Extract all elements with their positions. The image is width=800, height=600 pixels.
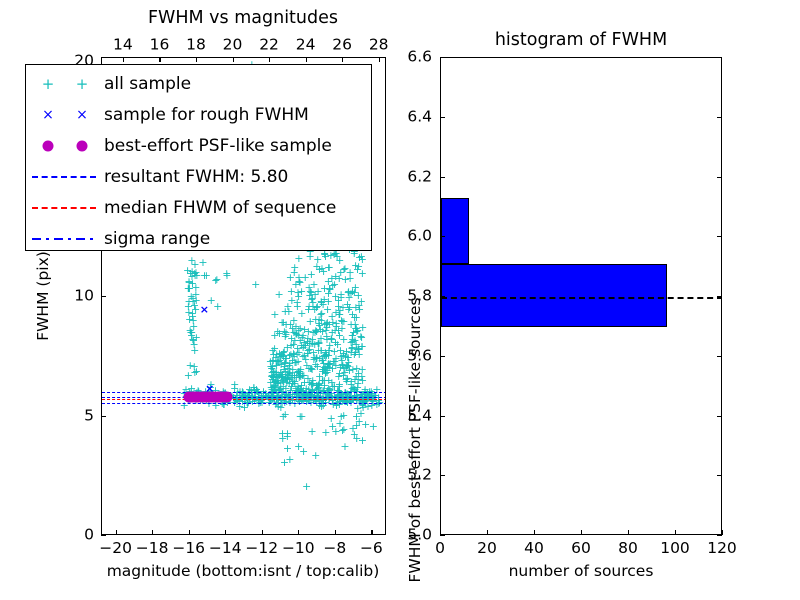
histogram-yticklabel: 6.0 bbox=[407, 229, 432, 245]
all-sample-marker: + bbox=[347, 381, 356, 389]
dashdot-line-icon bbox=[32, 238, 96, 240]
all-sample-marker: + bbox=[332, 323, 341, 331]
legend-item-4[interactable]: median FHWM of sequence bbox=[26, 192, 371, 223]
all-sample-marker: + bbox=[351, 262, 360, 270]
cross-icon: × bbox=[76, 107, 88, 123]
all-sample-marker: + bbox=[346, 275, 355, 283]
legend-label: median FHWM of sequence bbox=[104, 198, 336, 218]
histogram-xtick bbox=[675, 530, 676, 535]
all-sample-marker: + bbox=[336, 364, 345, 372]
all-sample-marker: + bbox=[187, 257, 196, 265]
all-sample-marker: + bbox=[340, 443, 349, 451]
histogram-ytick-right bbox=[717, 177, 722, 178]
histogram-ytick bbox=[440, 57, 445, 58]
all-sample-marker: + bbox=[283, 445, 292, 453]
scatter-xtick bbox=[225, 530, 226, 535]
all-sample-marker: + bbox=[305, 340, 314, 348]
scatter-xticklabel: −6 bbox=[360, 541, 383, 557]
histogram-ytick-right bbox=[717, 356, 722, 357]
histogram-xtick bbox=[487, 530, 488, 535]
scatter-top-xtick bbox=[123, 57, 124, 62]
histogram-xtick bbox=[534, 530, 535, 535]
all-sample-marker: + bbox=[311, 452, 320, 460]
all-sample-marker: + bbox=[211, 277, 220, 285]
legend-key-2 bbox=[26, 130, 104, 161]
legend-item-2[interactable]: best-effort PSF-like sample bbox=[26, 130, 371, 161]
all-sample-marker: + bbox=[273, 358, 282, 366]
all-sample-marker: + bbox=[188, 313, 197, 321]
all-sample-marker: + bbox=[327, 415, 336, 423]
scatter-top-xtick bbox=[196, 57, 197, 62]
histogram-xticklabel: 0 bbox=[435, 541, 445, 557]
histogram-xtick bbox=[628, 530, 629, 535]
circle-icon bbox=[77, 140, 88, 151]
all-sample-marker: + bbox=[243, 400, 252, 408]
all-sample-marker: + bbox=[348, 366, 357, 374]
legend-item-0[interactable]: ++all sample bbox=[26, 68, 371, 99]
histogram-xtick bbox=[581, 530, 582, 535]
all-sample-marker: + bbox=[339, 266, 348, 274]
scatter-xticklabel: −10 bbox=[282, 541, 315, 557]
scatter-top-xtick bbox=[159, 57, 160, 62]
all-sample-marker: + bbox=[346, 321, 355, 329]
circle-icon bbox=[43, 140, 54, 151]
histogram-reference-line bbox=[441, 297, 721, 299]
legend-label: all sample bbox=[104, 74, 191, 94]
all-sample-marker: + bbox=[310, 306, 319, 314]
all-sample-marker: + bbox=[283, 376, 292, 384]
scatter-xtick bbox=[335, 530, 336, 535]
histogram-ytick-right bbox=[717, 57, 722, 58]
all-sample-marker: + bbox=[348, 425, 357, 433]
scatter-title: FWHM vs magnitudes bbox=[148, 8, 338, 28]
scatter-xticklabel: −18 bbox=[136, 541, 169, 557]
legend-item-5[interactable]: sigma range bbox=[26, 223, 371, 254]
histogram-xticklabel: 80 bbox=[618, 541, 638, 557]
all-sample-marker: + bbox=[191, 291, 200, 299]
scatter-xticklabel: −16 bbox=[172, 541, 205, 557]
histogram-ytick bbox=[440, 117, 445, 118]
all-sample-marker: + bbox=[339, 426, 348, 434]
rough-sample-marker: × bbox=[200, 306, 209, 314]
legend-item-1[interactable]: ××sample for rough FWHM bbox=[26, 99, 371, 130]
scatter-xtick bbox=[298, 530, 299, 535]
all-sample-marker: + bbox=[337, 413, 346, 421]
scatter-ylabel: FWHM (pix) bbox=[34, 251, 52, 341]
all-sample-marker: + bbox=[251, 281, 260, 289]
histogram-axes[interactable] bbox=[440, 57, 722, 535]
scatter-top-xticklabel: 28 bbox=[369, 38, 389, 54]
histogram-plot-area bbox=[441, 58, 721, 534]
all-sample-marker: + bbox=[344, 288, 353, 296]
scatter-top-xticklabel: 26 bbox=[332, 38, 352, 54]
histogram-bar bbox=[441, 264, 667, 327]
all-sample-marker: + bbox=[325, 285, 334, 293]
scatter-xticklabel: −8 bbox=[323, 541, 346, 557]
scatter-top-xtick bbox=[306, 57, 307, 62]
scatter-top-xtick bbox=[342, 57, 343, 62]
all-sample-marker: + bbox=[309, 281, 318, 289]
all-sample-marker: + bbox=[302, 483, 311, 491]
histogram-xlabel: number of sources bbox=[509, 562, 654, 580]
scatter-yticklabel: 5 bbox=[84, 408, 94, 424]
scatter-reference-line bbox=[102, 392, 385, 393]
all-sample-marker: + bbox=[322, 351, 331, 359]
scatter-ytick bbox=[101, 296, 106, 297]
all-sample-marker: + bbox=[308, 366, 317, 374]
histogram-xticklabel: 40 bbox=[524, 541, 544, 557]
scatter-yticklabel: 0 bbox=[84, 527, 94, 543]
all-sample-marker: + bbox=[358, 437, 367, 445]
histogram-xticklabel: 100 bbox=[660, 541, 690, 557]
scatter-top-xticklabel: 24 bbox=[296, 38, 316, 54]
histogram-xticklabel: 120 bbox=[707, 541, 737, 557]
all-sample-marker: + bbox=[331, 428, 340, 436]
scatter-reference-line bbox=[102, 403, 385, 404]
histogram-yticklabel: 5.6 bbox=[407, 348, 432, 364]
all-sample-marker: + bbox=[317, 400, 326, 408]
scatter-xtick bbox=[371, 530, 372, 535]
scatter-xticklabel: −14 bbox=[209, 541, 242, 557]
histogram-yticklabel: 5.4 bbox=[407, 408, 432, 424]
dashed-line-icon bbox=[32, 207, 96, 209]
all-sample-marker: + bbox=[198, 259, 207, 267]
scatter-top-xtick bbox=[379, 57, 380, 62]
scatter-xtick bbox=[152, 530, 153, 535]
histogram-yticklabel: 5.8 bbox=[407, 288, 432, 304]
all-sample-marker: + bbox=[266, 379, 275, 387]
histogram-ytick-right bbox=[717, 535, 722, 536]
all-sample-marker: + bbox=[290, 359, 299, 367]
histogram-ytick-right bbox=[717, 117, 722, 118]
legend[interactable]: ++all sample××sample for rough FWHMbest-… bbox=[25, 64, 372, 251]
all-sample-marker: + bbox=[190, 347, 199, 355]
all-sample-marker: + bbox=[296, 413, 305, 421]
all-sample-marker: + bbox=[281, 411, 290, 419]
scatter-xticklabel: −12 bbox=[245, 541, 278, 557]
all-sample-marker: + bbox=[339, 352, 348, 360]
scatter-top-xticklabel: 20 bbox=[223, 38, 243, 54]
all-sample-marker: + bbox=[278, 435, 287, 443]
all-sample-marker: + bbox=[184, 372, 193, 380]
all-sample-marker: + bbox=[186, 270, 195, 278]
scatter-ytick bbox=[101, 535, 106, 536]
scatter-xtick bbox=[116, 530, 117, 535]
histogram-xticklabel: 20 bbox=[477, 541, 497, 557]
scatter-reference-line bbox=[102, 399, 385, 400]
legend-key-1: ×× bbox=[26, 99, 104, 130]
histogram-ytick bbox=[440, 236, 445, 237]
legend-label: resultant FWHM: 5.80 bbox=[104, 167, 288, 187]
all-sample-marker: + bbox=[189, 337, 198, 345]
all-sample-marker: + bbox=[294, 443, 303, 451]
histogram-yticklabel: 6.2 bbox=[407, 169, 432, 185]
all-sample-marker: + bbox=[321, 429, 330, 437]
scatter-xtick bbox=[262, 530, 263, 535]
all-sample-marker: + bbox=[290, 264, 299, 272]
psf-sample-marker bbox=[222, 392, 233, 403]
all-sample-marker: + bbox=[327, 336, 336, 344]
legend-key-0: ++ bbox=[26, 68, 104, 99]
all-sample-marker: + bbox=[285, 456, 294, 464]
scatter-top-xtick bbox=[269, 57, 270, 62]
histogram-ytick bbox=[440, 416, 445, 417]
scatter-top-xticklabel: 22 bbox=[259, 38, 279, 54]
histogram-bar bbox=[441, 198, 469, 264]
scatter-top-xticklabel: 14 bbox=[113, 38, 133, 54]
legend-label: best-effort PSF-like sample bbox=[104, 136, 332, 156]
all-sample-marker: + bbox=[316, 326, 325, 334]
figure-canvas: ++++++++++++++++++++++++++++++++++++++++… bbox=[0, 0, 800, 600]
all-sample-marker: + bbox=[270, 311, 279, 319]
histogram-xticklabel: 60 bbox=[571, 541, 591, 557]
all-sample-marker: + bbox=[350, 337, 359, 345]
all-sample-marker: + bbox=[305, 253, 314, 261]
all-sample-marker: + bbox=[321, 369, 330, 377]
scatter-xlabel: magnitude (bottom:isnt / top:calib) bbox=[107, 562, 380, 580]
legend-key-5 bbox=[26, 223, 104, 254]
plus-icon: + bbox=[42, 75, 55, 93]
all-sample-marker: + bbox=[314, 340, 323, 348]
all-sample-marker: + bbox=[307, 428, 316, 436]
histogram-yticklabel: 5.0 bbox=[407, 527, 432, 543]
dashed-line-icon bbox=[32, 176, 96, 178]
legend-key-4 bbox=[26, 192, 104, 223]
histogram-ytick-right bbox=[717, 416, 722, 417]
histogram-ytick bbox=[440, 475, 445, 476]
all-sample-marker: + bbox=[222, 270, 231, 278]
legend-key-3 bbox=[26, 161, 104, 192]
scatter-top-xticklabel: 16 bbox=[150, 38, 170, 54]
legend-label: sigma range bbox=[104, 229, 210, 249]
all-sample-marker: + bbox=[325, 264, 334, 272]
scatter-top-xticklabel: 18 bbox=[186, 38, 206, 54]
all-sample-marker: + bbox=[334, 303, 343, 311]
scatter-top-xtick bbox=[233, 57, 234, 62]
scatter-yticklabel: 10 bbox=[74, 288, 94, 304]
scatter-xtick bbox=[189, 530, 190, 535]
histogram-ytick-right bbox=[717, 236, 722, 237]
scatter-ytick bbox=[101, 57, 106, 58]
cross-icon: × bbox=[42, 107, 54, 123]
histogram-yticklabel: 6.6 bbox=[407, 49, 432, 65]
histogram-ytick-right bbox=[717, 475, 722, 476]
all-sample-marker: + bbox=[296, 337, 305, 345]
all-sample-marker: + bbox=[275, 291, 284, 299]
all-sample-marker: + bbox=[283, 303, 292, 311]
histogram-ytick bbox=[440, 177, 445, 178]
all-sample-marker: + bbox=[202, 272, 211, 280]
all-sample-marker: + bbox=[369, 423, 378, 431]
scatter-xticklabel: −20 bbox=[99, 541, 132, 557]
histogram-yticklabel: 6.4 bbox=[407, 109, 432, 125]
all-sample-marker: + bbox=[297, 288, 306, 296]
scatter-ytick bbox=[101, 416, 106, 417]
histogram-ytick bbox=[440, 356, 445, 357]
histogram-title: histogram of FWHM bbox=[495, 30, 667, 50]
histogram-yticklabel: 5.2 bbox=[407, 468, 432, 484]
legend-item-3[interactable]: resultant FWHM: 5.80 bbox=[26, 161, 371, 192]
histogram-ytick bbox=[440, 535, 445, 536]
legend-label: sample for rough FWHM bbox=[104, 105, 309, 125]
plus-icon: + bbox=[76, 75, 89, 93]
histogram-xtick bbox=[722, 530, 723, 535]
